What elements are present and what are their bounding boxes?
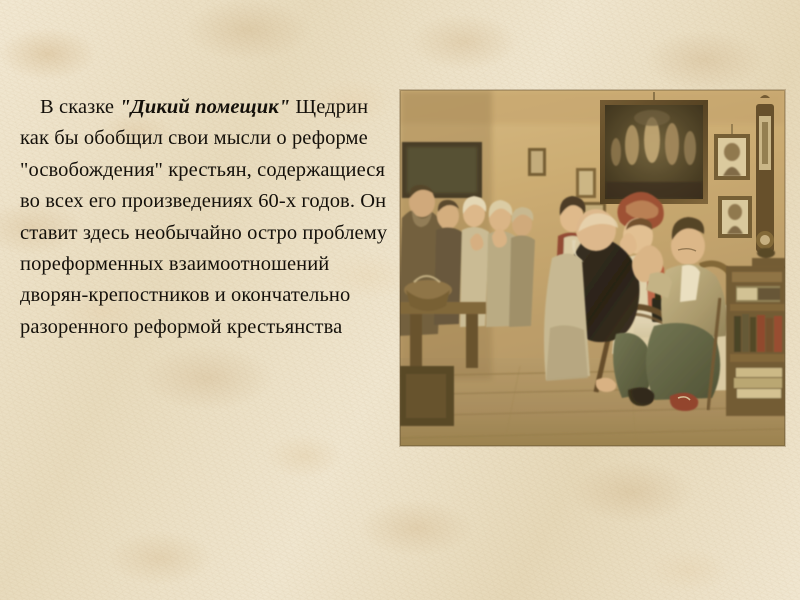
painting-artwork: [400, 90, 785, 446]
varnish-glaze: [400, 90, 785, 446]
slide-body-text: В сказке "Дикий помещик" Щедрин как бы о…: [20, 92, 402, 343]
text-before-title: В сказке: [40, 96, 119, 118]
work-title: "Дикий помещик": [119, 96, 290, 118]
painting-illustration: [400, 90, 785, 446]
body-paragraph: В сказке "Дикий помещик" Щедрин как бы о…: [20, 92, 402, 343]
slide: В сказке "Дикий помещик" Щедрин как бы о…: [0, 0, 800, 600]
text-after-title: Щедрин как бы обобщил свои мысли о рефор…: [20, 96, 387, 338]
